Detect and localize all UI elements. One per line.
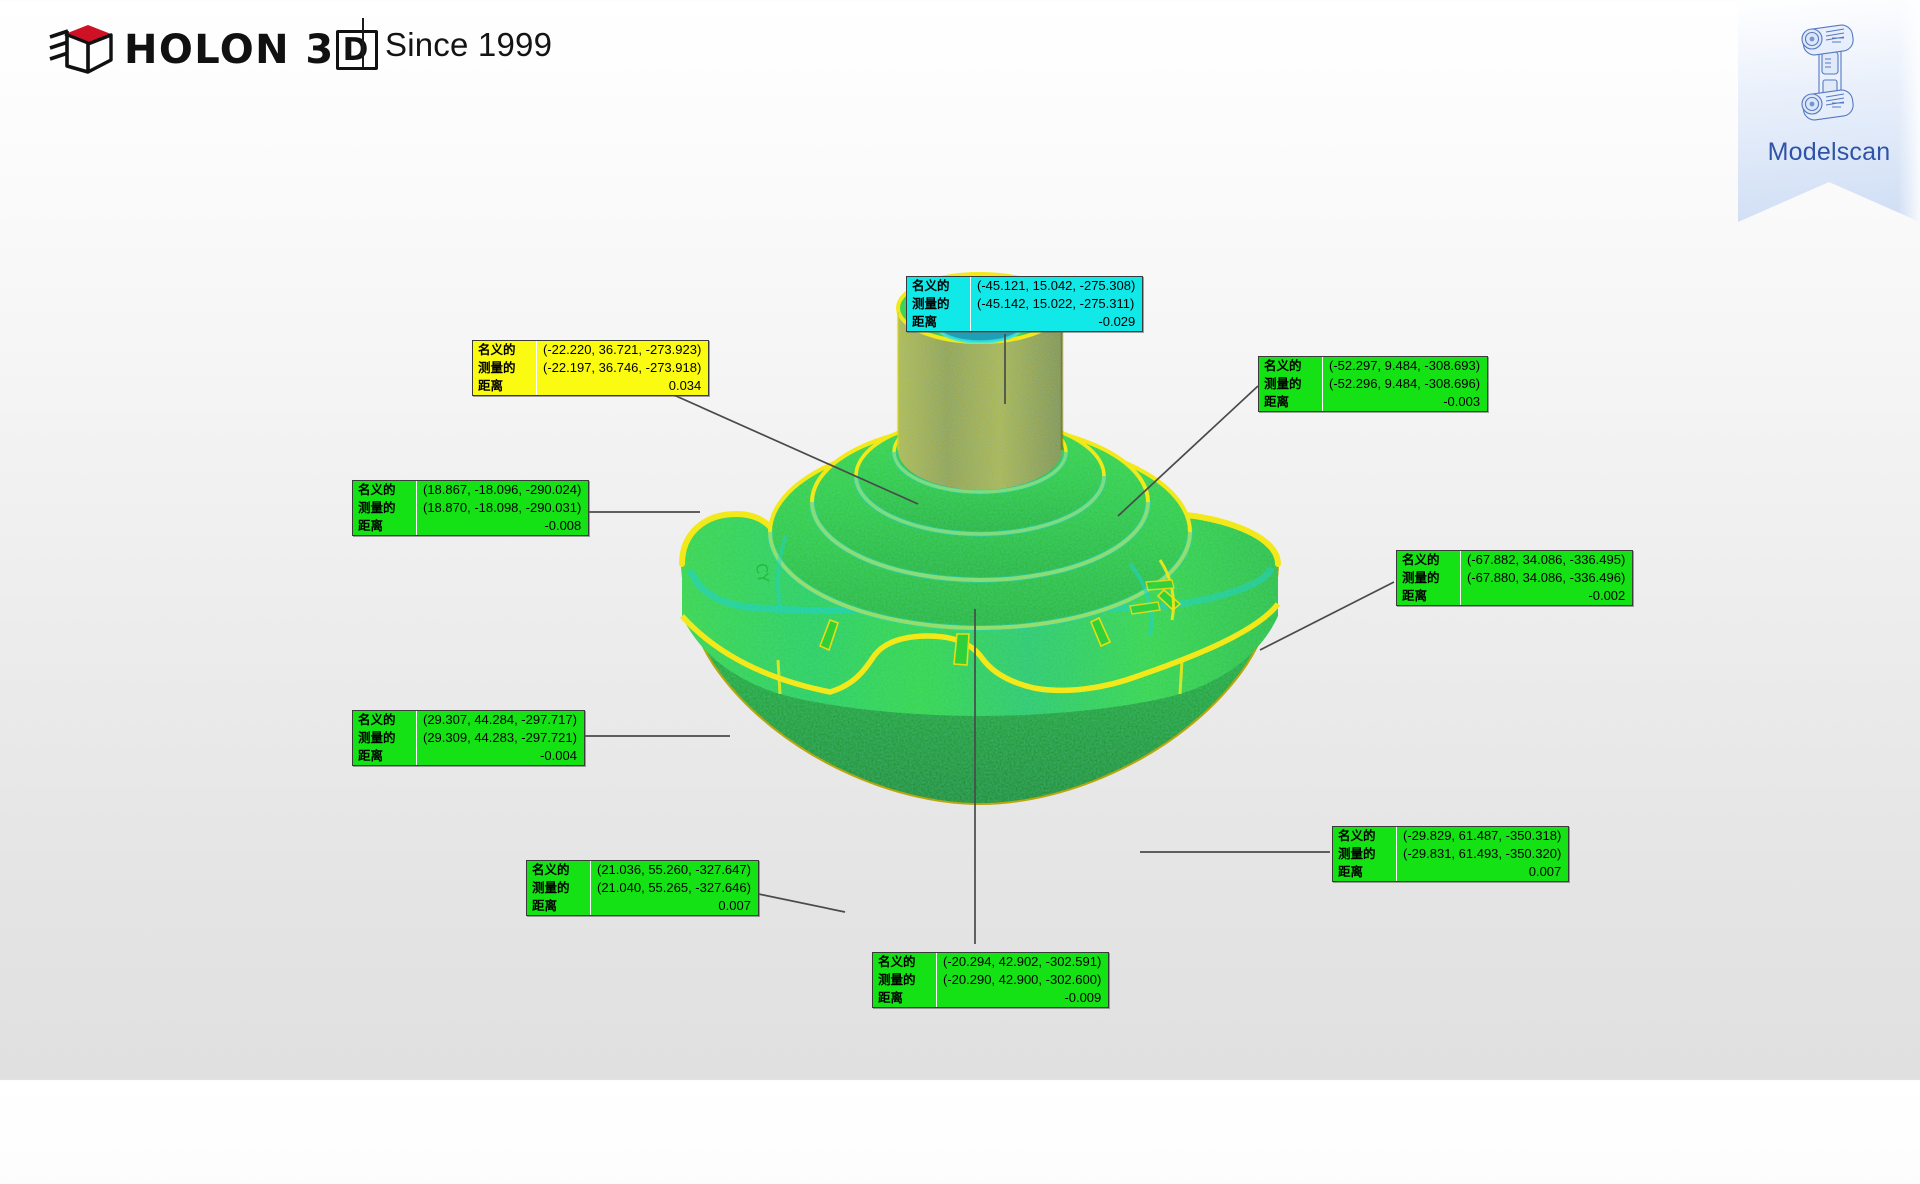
scanned-part-3d-model[interactable]: CY bbox=[660, 264, 1300, 834]
label-distance: 距离 bbox=[873, 989, 937, 1007]
callout-point-7[interactable]: 名义的 (-29.829, 61.487, -350.318) 测量的 (-29… bbox=[1332, 826, 1569, 882]
page-header: HOLON 3D Since 1999 bbox=[0, 0, 1920, 104]
label-measured: 测量的 bbox=[473, 359, 537, 377]
label-distance: 距离 bbox=[1397, 587, 1461, 605]
label-nominal: 名义的 bbox=[353, 481, 417, 499]
holon-cube-icon bbox=[48, 22, 114, 78]
value-nominal: (21.036, 55.260, -327.647) bbox=[591, 861, 758, 879]
label-measured: 测量的 bbox=[873, 971, 937, 989]
label-distance: 距离 bbox=[907, 313, 971, 331]
label-measured: 测量的 bbox=[1259, 375, 1323, 393]
value-nominal: (-52.297, 9.484, -308.693) bbox=[1323, 357, 1488, 375]
model-viewport[interactable]: CY bbox=[0, 104, 1920, 1080]
label-measured: 测量的 bbox=[1333, 845, 1397, 863]
callout-row-nominal: 名义的 (21.036, 55.260, -327.647) bbox=[527, 861, 758, 879]
label-nominal: 名义的 bbox=[873, 953, 937, 971]
callout-row-distance: 距离 -0.003 bbox=[1259, 393, 1487, 411]
value-measured: (-29.831, 61.493, -350.320) bbox=[1397, 845, 1569, 863]
label-distance: 距离 bbox=[527, 897, 591, 915]
callout-row-distance: 距离 0.034 bbox=[473, 377, 708, 395]
callout-row-nominal: 名义的 (-45.121, 15.042, -275.308) bbox=[907, 277, 1142, 295]
label-measured: 测量的 bbox=[353, 729, 417, 747]
callout-row-nominal: 名义的 (29.307, 44.284, -297.717) bbox=[353, 711, 584, 729]
brand-wordmark: HOLON 3D bbox=[124, 30, 378, 70]
label-nominal: 名义的 bbox=[1259, 357, 1323, 375]
label-measured: 测量的 bbox=[907, 295, 971, 313]
value-distance: -0.002 bbox=[1461, 587, 1633, 605]
callout-row-nominal: 名义的 (-20.294, 42.902, -302.591) bbox=[873, 953, 1108, 971]
callout-row-nominal: 名义的 (-22.220, 36.721, -273.923) bbox=[473, 341, 708, 359]
callout-point-3[interactable]: 名义的 (-52.297, 9.484, -308.693) 测量的 (-52.… bbox=[1258, 356, 1488, 412]
value-distance: 0.007 bbox=[1397, 863, 1569, 881]
callout-row-distance: 距离 0.007 bbox=[527, 897, 758, 915]
callout-row-measured: 测量的 (-45.142, 15.022, -275.311) bbox=[907, 295, 1142, 313]
value-measured: (-52.296, 9.484, -308.696) bbox=[1323, 375, 1488, 393]
label-measured: 测量的 bbox=[527, 879, 591, 897]
callout-row-nominal: 名义的 (18.867, -18.096, -290.024) bbox=[353, 481, 588, 499]
value-measured: (18.870, -18.098, -290.031) bbox=[417, 499, 589, 517]
brand-d-badge: D bbox=[336, 30, 378, 70]
value-nominal: (-67.882, 34.086, -336.495) bbox=[1461, 551, 1633, 569]
label-nominal: 名义的 bbox=[907, 277, 971, 295]
callout-point-1[interactable]: 名义的 (-45.121, 15.042, -275.308) 测量的 (-45… bbox=[906, 276, 1143, 332]
value-measured: (-67.880, 34.086, -336.496) bbox=[1461, 569, 1633, 587]
callout-point-2[interactable]: 名义的 (-22.220, 36.721, -273.923) 测量的 (-22… bbox=[472, 340, 709, 396]
label-measured: 测量的 bbox=[353, 499, 417, 517]
value-measured: (-20.290, 42.900, -302.600) bbox=[937, 971, 1109, 989]
brand-name-text: HOLON 3 bbox=[124, 27, 335, 73]
label-nominal: 名义的 bbox=[1397, 551, 1461, 569]
callout-row-distance: 距离 -0.029 bbox=[907, 313, 1142, 331]
callout-row-nominal: 名义的 (-67.882, 34.086, -336.495) bbox=[1397, 551, 1632, 569]
callout-point-5[interactable]: 名义的 (-67.882, 34.086, -336.495) 测量的 (-67… bbox=[1396, 550, 1633, 606]
header-divider bbox=[362, 18, 364, 68]
callout-row-measured: 测量的 (18.870, -18.098, -290.031) bbox=[353, 499, 588, 517]
value-distance: -0.029 bbox=[971, 313, 1143, 331]
callout-row-distance: 距离 -0.009 bbox=[873, 989, 1108, 1007]
label-distance: 距离 bbox=[353, 747, 417, 765]
callout-row-measured: 测量的 (29.309, 44.283, -297.721) bbox=[353, 729, 584, 747]
value-nominal: (-29.829, 61.487, -350.318) bbox=[1397, 827, 1569, 845]
callout-row-measured: 测量的 (-20.290, 42.900, -302.600) bbox=[873, 971, 1108, 989]
value-nominal: (18.867, -18.096, -290.024) bbox=[417, 481, 589, 499]
value-nominal: (-20.294, 42.902, -302.591) bbox=[937, 953, 1109, 971]
label-nominal: 名义的 bbox=[1333, 827, 1397, 845]
value-distance: 0.034 bbox=[537, 377, 709, 395]
value-measured: (29.309, 44.283, -297.721) bbox=[417, 729, 584, 747]
label-distance: 距离 bbox=[1259, 393, 1323, 411]
callout-row-distance: 距离 0.007 bbox=[1333, 863, 1568, 881]
value-nominal: (29.307, 44.284, -297.717) bbox=[417, 711, 584, 729]
callout-row-distance: 距离 -0.002 bbox=[1397, 587, 1632, 605]
callout-row-measured: 测量的 (-29.831, 61.493, -350.320) bbox=[1333, 845, 1568, 863]
label-distance: 距离 bbox=[473, 377, 537, 395]
value-measured: (21.040, 55.265, -327.646) bbox=[591, 879, 758, 897]
callout-row-distance: 距离 -0.004 bbox=[353, 747, 584, 765]
value-measured: (-22.197, 36.746, -273.918) bbox=[537, 359, 709, 377]
value-distance: 0.007 bbox=[591, 897, 758, 915]
callout-row-distance: 距离 -0.008 bbox=[353, 517, 588, 535]
label-distance: 距离 bbox=[353, 517, 417, 535]
callout-row-measured: 测量的 (-52.296, 9.484, -308.696) bbox=[1259, 375, 1487, 393]
label-nominal: 名义的 bbox=[353, 711, 417, 729]
callout-row-nominal: 名义的 (-29.829, 61.487, -350.318) bbox=[1333, 827, 1568, 845]
value-measured: (-45.142, 15.022, -275.311) bbox=[971, 295, 1143, 313]
callout-point-4[interactable]: 名义的 (18.867, -18.096, -290.024) 测量的 (18.… bbox=[352, 480, 589, 536]
value-distance: -0.008 bbox=[417, 517, 589, 535]
app-root: HOLON 3D Since 1999 bbox=[0, 0, 1920, 1080]
value-distance: -0.009 bbox=[937, 989, 1109, 1007]
label-distance: 距离 bbox=[1333, 863, 1397, 881]
label-nominal: 名义的 bbox=[473, 341, 537, 359]
value-distance: -0.004 bbox=[417, 747, 584, 765]
callout-row-nominal: 名义的 (-52.297, 9.484, -308.693) bbox=[1259, 357, 1487, 375]
brand-logo[interactable]: HOLON 3D bbox=[48, 22, 378, 78]
callout-point-8[interactable]: 名义的 (21.036, 55.260, -327.647) 测量的 (21.0… bbox=[526, 860, 759, 916]
value-distance: -0.003 bbox=[1323, 393, 1488, 411]
callout-point-9[interactable]: 名义的 (-20.294, 42.902, -302.591) 测量的 (-20… bbox=[872, 952, 1109, 1008]
value-nominal: (-45.121, 15.042, -275.308) bbox=[971, 277, 1143, 295]
callout-row-measured: 测量的 (21.040, 55.265, -327.646) bbox=[527, 879, 758, 897]
label-nominal: 名义的 bbox=[527, 861, 591, 879]
label-measured: 测量的 bbox=[1397, 569, 1461, 587]
brand-tagline: Since 1999 bbox=[385, 26, 552, 64]
callout-row-measured: 测量的 (-22.197, 36.746, -273.918) bbox=[473, 359, 708, 377]
callout-point-6[interactable]: 名义的 (29.307, 44.284, -297.717) 测量的 (29.3… bbox=[352, 710, 585, 766]
callout-row-measured: 测量的 (-67.880, 34.086, -336.496) bbox=[1397, 569, 1632, 587]
value-nominal: (-22.220, 36.721, -273.923) bbox=[537, 341, 709, 359]
svg-text:CY: CY bbox=[752, 562, 773, 585]
